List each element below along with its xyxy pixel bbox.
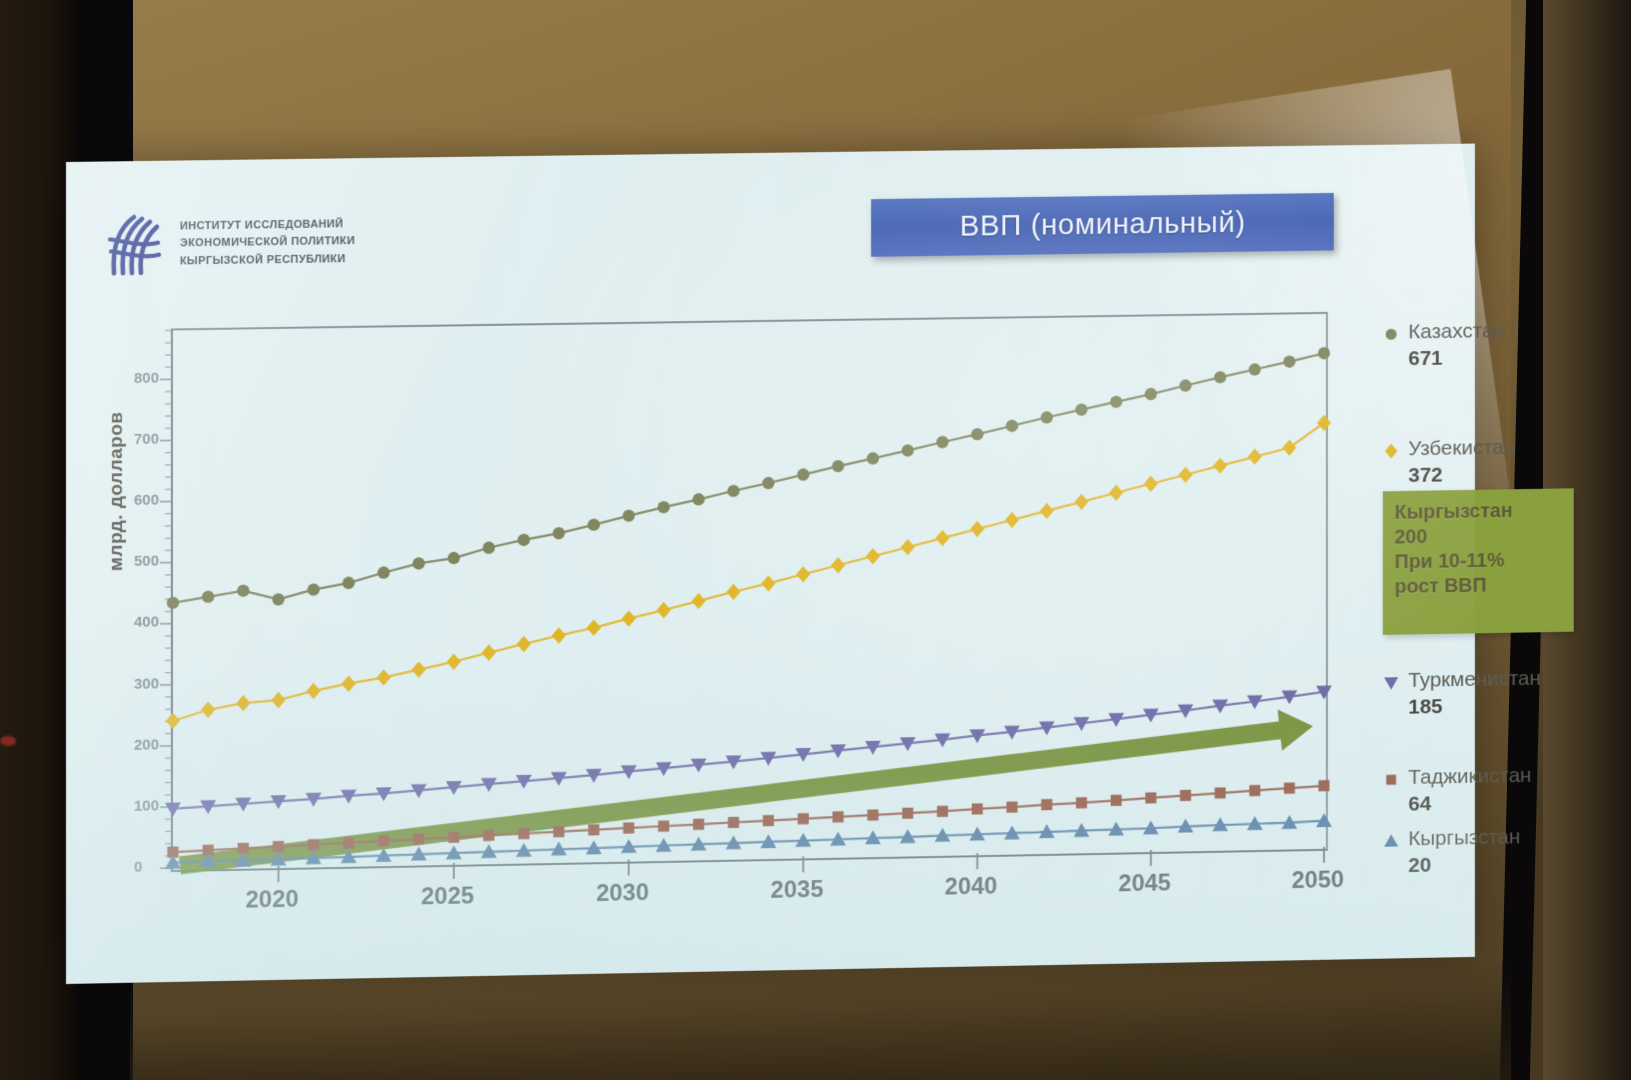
- legend-item-1[interactable]: Казахстан671: [1383, 319, 1505, 371]
- logo-line-2: ЭКОНОМИЧЕСКОЙ ПОЛИТИКИ: [180, 234, 355, 253]
- wall-red-marker: [0, 736, 16, 746]
- legend-series-value: 185: [1408, 693, 1541, 719]
- annotation-line-1: Кыргызстан: [1395, 498, 1562, 525]
- legend-series-name: Казахстан: [1408, 319, 1504, 345]
- slide-title-text: ВВП (номинальный): [960, 206, 1246, 244]
- legend-marker-icon: [1383, 833, 1400, 850]
- annotation-line-3: При 10-11%: [1395, 548, 1562, 575]
- annotation-line-4: рост ВВП: [1395, 573, 1562, 600]
- logo-line-3: КЫРГЫЗСКОЙ РЕСПУБЛИКИ: [180, 251, 355, 270]
- legend-item-2[interactable]: Узбекистан372: [1383, 436, 1515, 488]
- legend-marker-icon: [1383, 771, 1400, 788]
- plot-canvas: [116, 302, 1437, 941]
- projected-slide: ИНСТИТУТ ИССЛЕДОВАНИЙ ЭКОНОМИЧЕСКОЙ ПОЛИ…: [66, 144, 1475, 984]
- legend-series-name: Туркменистан: [1408, 667, 1541, 694]
- legend-series-value: 372: [1408, 462, 1515, 487]
- screenshot-root: ИНСТИТУТ ИССЛЕДОВАНИЙ ЭКОНОМИЧЕСКОЙ ПОЛИ…: [0, 0, 1631, 1080]
- legend-series-value: 64: [1408, 790, 1531, 816]
- legend-item-5[interactable]: Кыргызстан20: [1383, 825, 1520, 878]
- logo-mark-icon: [104, 213, 166, 278]
- legend-item-3[interactable]: Туркменистан185: [1383, 667, 1541, 720]
- legend-series-name: Узбекистан: [1408, 436, 1515, 462]
- institute-logo: ИНСТИТУТ ИССЛЕДОВАНИЙ ЭКОНОМИЧЕСКОЙ ПОЛИ…: [104, 210, 355, 277]
- logo-text-block: ИНСТИТУТ ИССЛЕДОВАНИЙ ЭКОНОМИЧЕСКОЙ ПОЛИ…: [180, 217, 355, 270]
- annotation-box: Кыргызстан 200 При 10-11% рост ВВП: [1383, 488, 1574, 635]
- legend-marker-icon: [1383, 326, 1400, 343]
- legend-series-name: Кыргызстан: [1408, 825, 1520, 852]
- legend-series-name: Таджикистан: [1408, 764, 1531, 791]
- legend-item-4[interactable]: Таджикистан64: [1383, 764, 1532, 817]
- legend-series-value: 20: [1408, 852, 1520, 878]
- legend-marker-icon: [1383, 674, 1400, 691]
- chart-area: млрд. долларов 0100200300400500600700800…: [116, 302, 1437, 941]
- legend-marker-icon: [1383, 443, 1400, 460]
- legend-series-value: 671: [1408, 346, 1504, 371]
- slide-title-banner: ВВП (номинальный): [871, 193, 1334, 257]
- annotation-line-2: 200: [1395, 523, 1562, 550]
